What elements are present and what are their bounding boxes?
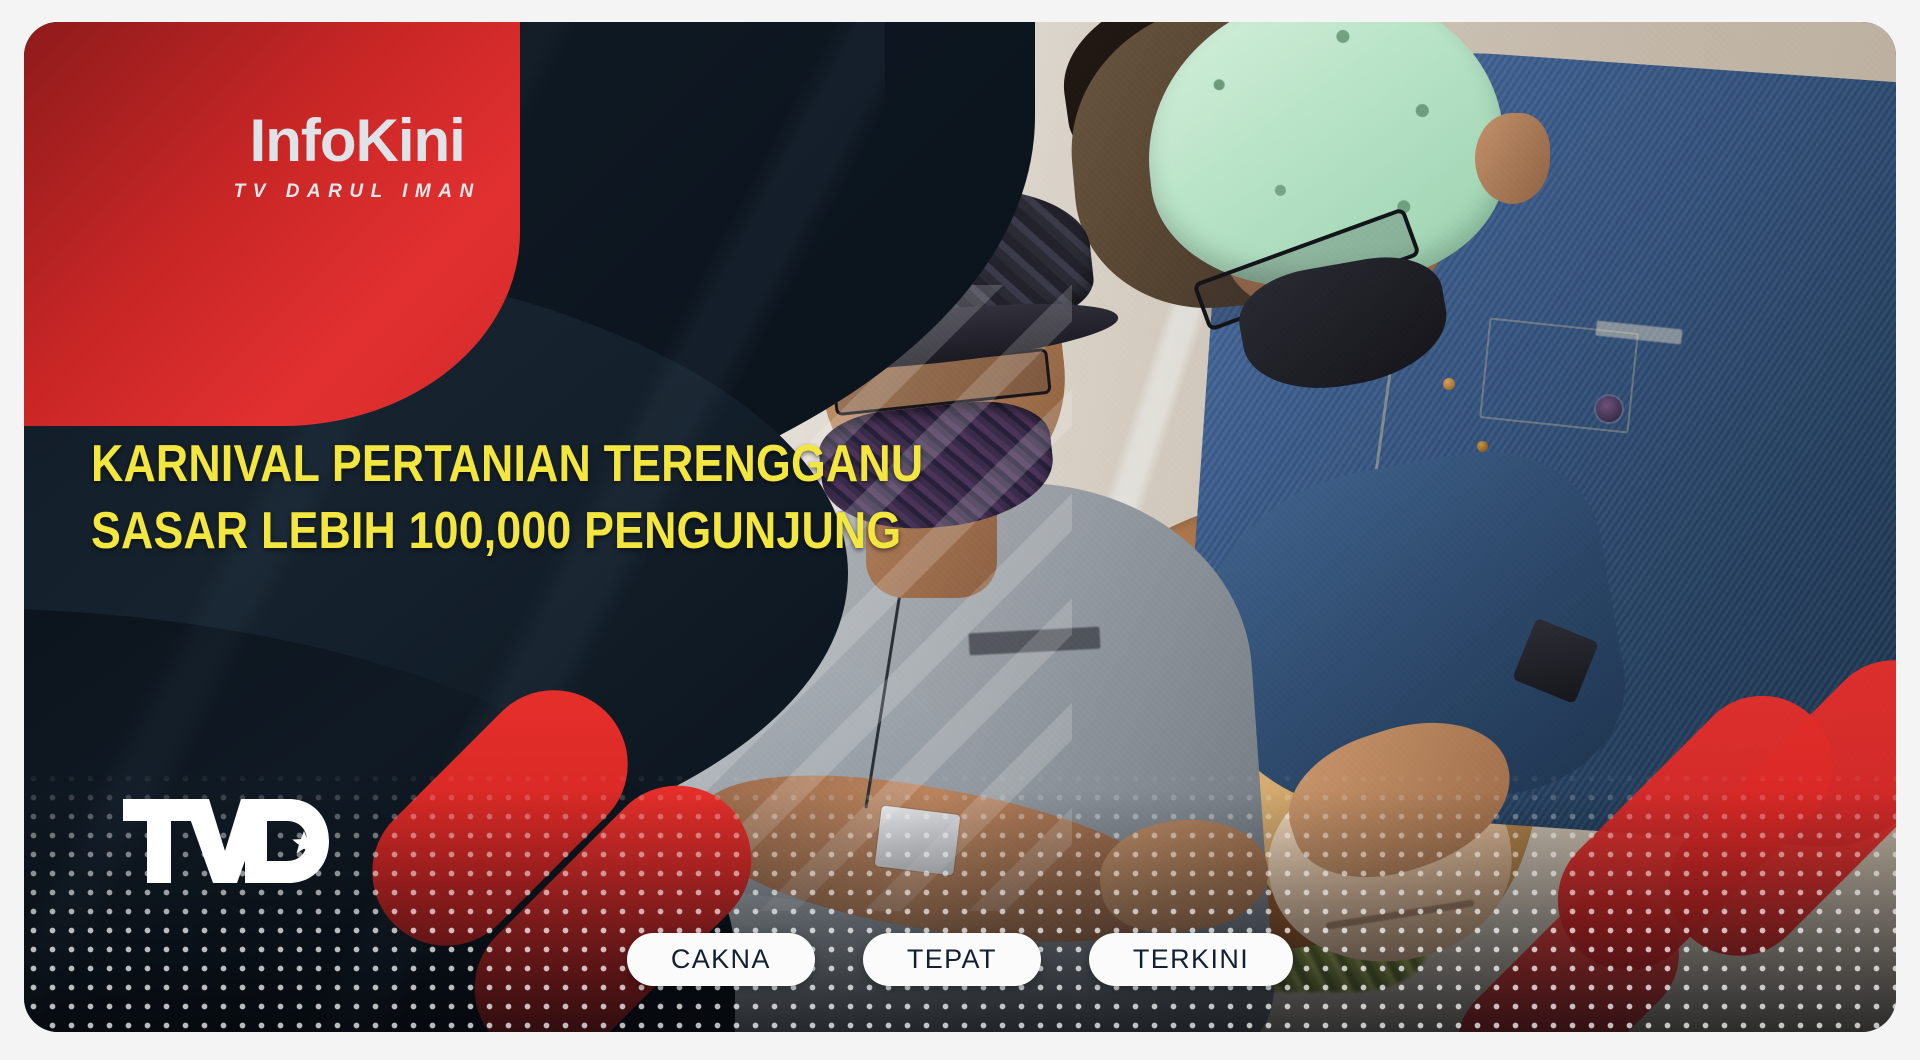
- brand-name: InfoKini: [234, 111, 481, 171]
- red-corner-wedge: [24, 22, 520, 426]
- tag-pill-tepat[interactable]: TEPAT: [863, 933, 1041, 986]
- news-graphic-card: InfoKini TV DARUL IMAN KARNIVAL PERTANIA…: [24, 22, 1896, 1032]
- tag-pill-cakna[interactable]: CAKNA: [627, 933, 815, 986]
- tvdi-station-logo: [121, 795, 331, 887]
- tvd-wordmark-icon: [121, 795, 331, 887]
- brand-subtitle: TV DARUL IMAN: [234, 181, 481, 203]
- infokini-logo: InfoKini TV DARUL IMAN: [234, 111, 481, 203]
- tagline-pill-row: CAKNA TEPAT TERKINI: [24, 933, 1896, 986]
- tag-pill-terkini[interactable]: TERKINI: [1089, 933, 1293, 986]
- headline-line-2: SASAR LEBIH 100,000 PENGUNJUNG: [91, 498, 993, 565]
- headline-block: KARNIVAL PERTANIAN TERENGGANU SASAR LEBI…: [91, 431, 1139, 564]
- headline-line-1: KARNIVAL PERTANIAN TERENGGANU: [91, 431, 993, 498]
